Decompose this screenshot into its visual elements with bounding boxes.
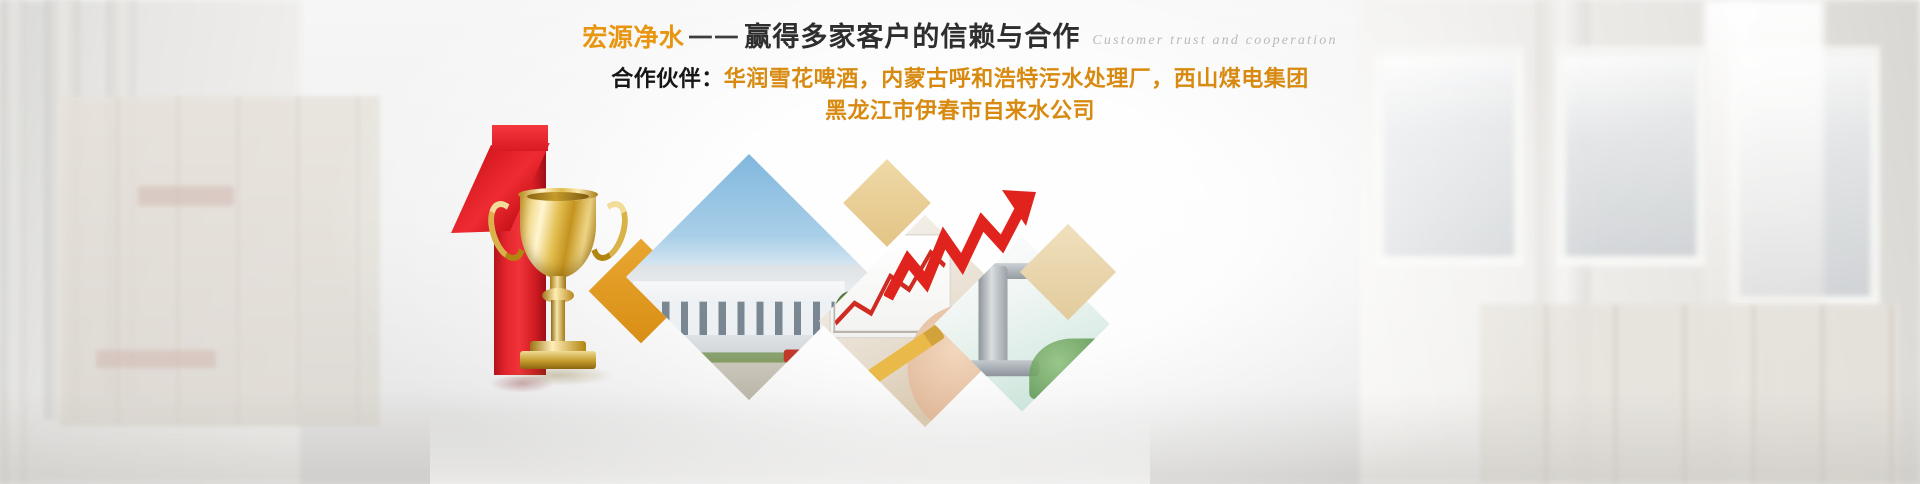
factory-photo-content (626, 154, 872, 400)
headline-line-3: 黑龙江市伊春市自来水公司 (0, 101, 1920, 123)
partners-label: 合作伙伴： (611, 67, 724, 92)
trophy-inner-rim (527, 192, 589, 201)
trophy-shadow (502, 368, 614, 386)
partners-list-line-2: 黑龙江市伊春市自来水公司 (825, 99, 1095, 124)
headline-block: 宏源净水一一赢得多家客户的信赖与合作Customer trust and coo… (0, 24, 1920, 123)
lab-plant-leaf (1029, 338, 1101, 399)
brand-name: 宏源净水 (582, 23, 684, 52)
trophy-bowl (520, 192, 596, 278)
gold-trophy-graphic (494, 192, 622, 377)
factory-windows (643, 302, 835, 335)
headline-line-2: 合作伙伴：华润雪花啤酒，内蒙古呼和浩特污水处理厂，西山煤电集团 (0, 69, 1920, 91)
partners-list-line-1: 华润雪花啤酒，内蒙古呼和浩特污水处理厂，西山煤电集团 (724, 67, 1309, 92)
trophy-stem (551, 300, 565, 344)
headline-slogan: 赢得多家客户的信赖与合作 (744, 22, 1080, 53)
red-growth-arrow (884, 186, 1042, 306)
numeral-one-top (492, 125, 548, 151)
headline-separator: 一一 (684, 25, 744, 52)
factory-exterior-photo (626, 154, 872, 400)
headline-slogan-english: Customer trust and cooperation (1080, 33, 1337, 48)
factory-red-car (784, 350, 802, 363)
promo-banner: 宏源净水一一赢得多家客户的信赖与合作Customer trust and coo… (0, 0, 1920, 484)
trophy-base-lower (520, 351, 596, 369)
factory-ground (626, 358, 872, 400)
headline-line-1: 宏源净水一一赢得多家客户的信赖与合作Customer trust and coo… (0, 24, 1920, 51)
